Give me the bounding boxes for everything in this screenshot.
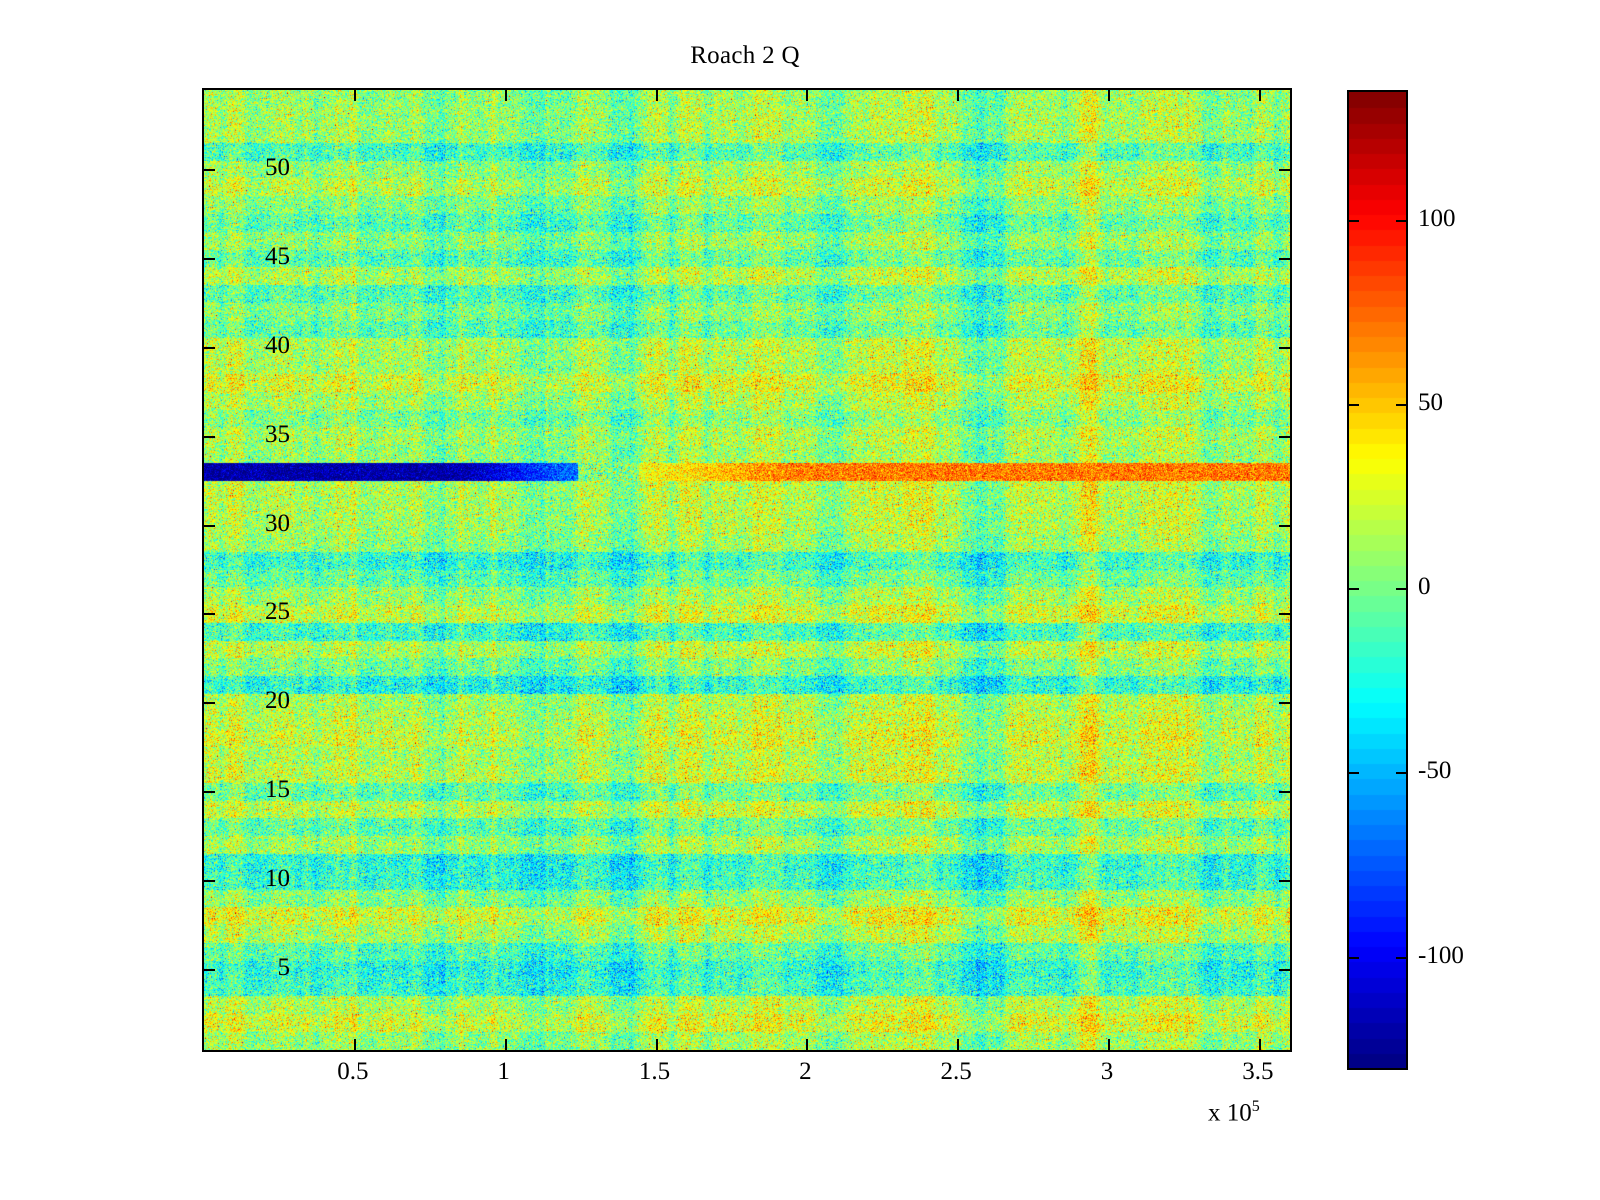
y-tick-mark — [1279, 347, 1290, 349]
colorbar-tick-mark — [1349, 957, 1359, 959]
y-tick-label: 35 — [170, 421, 290, 449]
y-tick-mark — [1279, 969, 1290, 971]
y-tick-mark — [1279, 880, 1290, 882]
y-tick-label: 25 — [170, 598, 290, 626]
y-tick-label: 5 — [170, 954, 290, 982]
x-tick-mark — [957, 90, 959, 101]
colorbar-tick-mark — [1396, 404, 1406, 406]
x-tick-mark — [806, 90, 808, 101]
x-tick-mark — [656, 1039, 658, 1050]
y-tick-label: 20 — [170, 687, 290, 715]
x-tick-mark — [505, 1039, 507, 1050]
colorbar-tick-mark — [1349, 588, 1359, 590]
colorbar-tick-mark — [1349, 220, 1359, 222]
x-tick-label: 3.5 — [1188, 1058, 1328, 1086]
x-tick-mark — [1108, 90, 1110, 101]
chart-title: Roach 2 Q — [0, 42, 1490, 70]
y-tick-mark — [1279, 436, 1290, 438]
colorbar-tick-mark — [1349, 404, 1359, 406]
x-tick-mark — [354, 90, 356, 101]
x-tick-label: 0.5 — [283, 1058, 423, 1086]
x-tick-mark — [957, 1039, 959, 1050]
colorbar-tick-label: 0 — [1418, 573, 1431, 601]
colorbar-tick-label: -50 — [1418, 757, 1451, 785]
colorbar-tick-mark — [1396, 220, 1406, 222]
y-tick-label: 45 — [170, 243, 290, 271]
x-tick-label: 1.5 — [585, 1058, 725, 1086]
colorbar-tick-mark — [1349, 772, 1359, 774]
y-tick-label: 10 — [170, 865, 290, 893]
heatmap-image — [204, 90, 1290, 1050]
heatmap-axes[interactable] — [202, 88, 1292, 1052]
x-exponent-base: x 10 — [1208, 1099, 1252, 1126]
y-tick-mark — [1279, 791, 1290, 793]
x-tick-mark — [1259, 90, 1261, 101]
x-axis-exponent-label: x 105 — [1208, 1098, 1260, 1127]
y-tick-mark — [1279, 258, 1290, 260]
x-tick-mark — [354, 1039, 356, 1050]
colorbar[interactable] — [1347, 90, 1408, 1070]
y-tick-label: 50 — [170, 154, 290, 182]
y-tick-label: 40 — [170, 332, 290, 360]
colorbar-tick-mark — [1396, 588, 1406, 590]
y-tick-label: 30 — [170, 510, 290, 538]
colorbar-tick-label: 100 — [1418, 205, 1456, 233]
matlab-figure-window: Roach 2 Q 5101520253035404550 0.511.522.… — [0, 0, 1600, 1200]
colorbar-gradient — [1349, 92, 1406, 1068]
x-tick-mark — [505, 90, 507, 101]
x-tick-mark — [1108, 1039, 1110, 1050]
x-tick-mark — [806, 1039, 808, 1050]
colorbar-tick-label: 50 — [1418, 389, 1443, 417]
colorbar-tick-label: -100 — [1418, 942, 1464, 970]
x-tick-mark — [1259, 1039, 1261, 1050]
y-tick-label: 15 — [170, 776, 290, 804]
x-tick-label: 2 — [735, 1058, 875, 1086]
x-tick-label: 3 — [1037, 1058, 1177, 1086]
x-exponent-power: 5 — [1252, 1098, 1260, 1115]
y-tick-mark — [1279, 169, 1290, 171]
x-tick-label: 1 — [434, 1058, 574, 1086]
colorbar-tick-mark — [1396, 957, 1406, 959]
y-tick-mark — [1279, 702, 1290, 704]
x-tick-mark — [656, 90, 658, 101]
x-tick-label: 2.5 — [886, 1058, 1026, 1086]
y-tick-mark — [1279, 613, 1290, 615]
y-tick-mark — [1279, 525, 1290, 527]
colorbar-tick-mark — [1396, 772, 1406, 774]
